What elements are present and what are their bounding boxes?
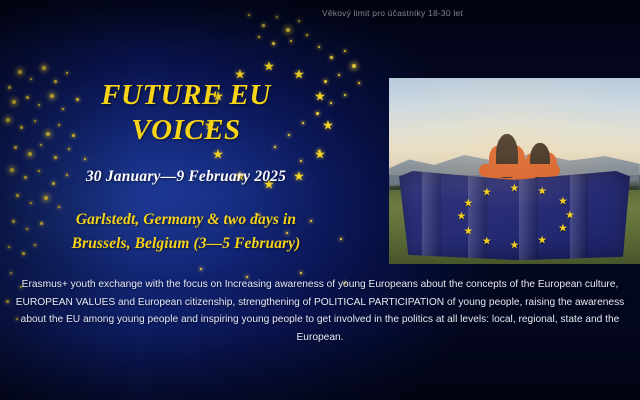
age-limit-note: Věkový limit pro účastníky 18-30 let	[322, 8, 463, 18]
event-description: Erasmus+ youth exchange with the focus o…	[0, 276, 640, 346]
flag-star	[468, 204, 478, 215]
poster-headline: FUTURE EU VOICES	[0, 78, 372, 149]
flag-star	[487, 242, 497, 253]
flag-star	[514, 246, 524, 257]
venue-line-1: Garlstedt, Germany & two days in	[76, 211, 296, 228]
venue-line-2: Brussels, Belgium (3—5 February)	[0, 232, 372, 256]
eu-flag	[399, 171, 630, 260]
event-venue: Garlstedt, Germany & two days in Brussel…	[0, 208, 372, 256]
flag-star	[563, 229, 573, 240]
event-dates: 30 January—9 February 2025	[0, 168, 372, 186]
flag-star	[468, 232, 478, 243]
flag-star	[570, 216, 580, 227]
headline-line-2: VOICES	[0, 113, 372, 148]
headline-line-1: FUTURE EU	[101, 79, 271, 111]
flag-star	[461, 217, 471, 228]
flag-star	[542, 192, 552, 203]
flag-star	[514, 189, 524, 200]
eu-flag-photo	[389, 78, 640, 264]
poster-canvas: Věkový limit pro účastníky 18-30 let FUT…	[0, 0, 640, 400]
flag-star	[542, 241, 552, 252]
description-text: Erasmus+ youth exchange with the focus o…	[4, 276, 636, 346]
photo-person-arm	[479, 164, 559, 177]
flag-star	[487, 193, 497, 204]
